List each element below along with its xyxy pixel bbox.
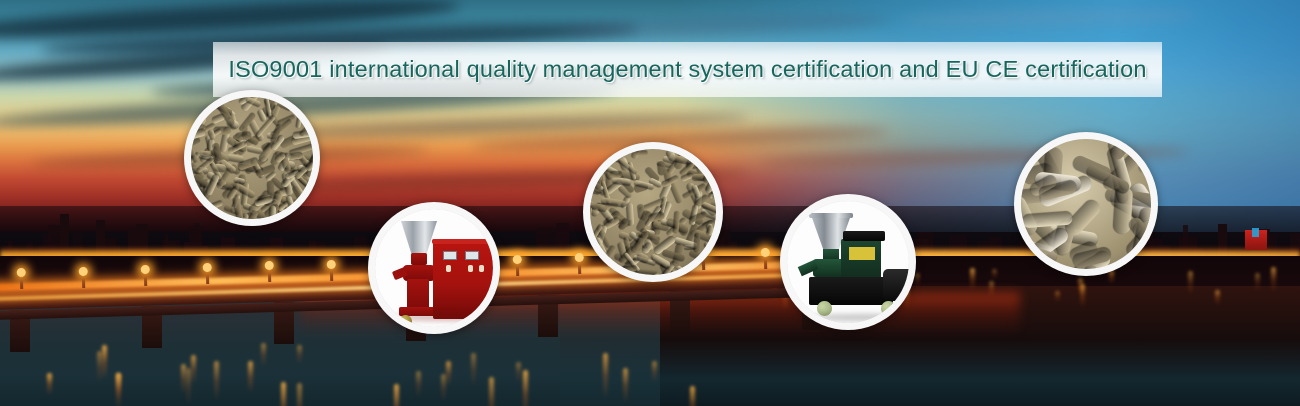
water-reflection	[261, 343, 266, 367]
machine-switch	[446, 265, 451, 272]
machine-cabinet-top	[432, 239, 493, 244]
headline-bar: ISO9001 international quality management…	[213, 42, 1162, 97]
water-reflection	[623, 368, 628, 403]
water-reflection	[1271, 267, 1276, 292]
water-reflection	[97, 351, 102, 383]
circle-image-area	[787, 201, 909, 323]
wood-pellet	[610, 172, 622, 178]
water-reflection	[915, 273, 920, 287]
water-reflection	[1078, 278, 1083, 293]
machine-meter	[465, 251, 479, 260]
bridge-lamp	[268, 266, 271, 282]
wood-pellet	[694, 233, 700, 252]
circle-image-area	[590, 149, 716, 275]
water-reflection	[1109, 270, 1114, 284]
water-reflection	[416, 371, 421, 398]
water-reflection	[116, 373, 121, 406]
water-reflection	[1255, 273, 1260, 291]
water-reflection	[297, 345, 302, 365]
wood-pellet	[227, 153, 244, 161]
machine-control-cabinet	[433, 241, 493, 319]
circle-red-pellet-mill[interactable]	[368, 202, 500, 334]
wood-pellet	[201, 100, 210, 116]
water-reflection	[441, 374, 446, 402]
wood-pellet	[635, 151, 648, 156]
water-reflection	[214, 361, 219, 402]
water-reflection	[1215, 290, 1220, 305]
water-reflection	[989, 281, 994, 297]
circle-image-area	[375, 209, 493, 327]
circle-image-area	[1021, 139, 1151, 269]
water-reflection	[446, 361, 451, 387]
water-reflection	[471, 353, 476, 386]
wood-pellet	[605, 264, 618, 275]
water-reflection	[516, 362, 521, 382]
bridge-lamp	[764, 253, 767, 269]
headline-text: ISO9001 international quality management…	[228, 56, 1146, 83]
water-reflection	[690, 386, 695, 406]
wood-pellet	[712, 195, 716, 200]
circle-wood-pellets-3[interactable]	[1014, 132, 1158, 276]
machine-meter	[443, 251, 457, 260]
cloud-streak	[560, 10, 890, 40]
cloud-streak	[900, 7, 1200, 28]
wood-pellet	[210, 98, 220, 102]
bridge-lamp	[330, 265, 333, 281]
water-reflection	[248, 361, 253, 392]
wood-pellet	[1021, 264, 1035, 269]
water-reflection	[102, 345, 107, 379]
wood-pellet	[308, 181, 313, 193]
water-reflection	[394, 384, 399, 406]
bridge-lamp	[20, 273, 23, 289]
wood-pellet	[590, 166, 606, 172]
promo-banner: ISO9001 international quality management…	[0, 0, 1300, 406]
blue-sign-accent	[1252, 228, 1259, 237]
water-reflection	[191, 355, 196, 384]
circle-image-area	[191, 97, 313, 219]
wood-pellet	[269, 206, 276, 219]
bridge-lamp	[516, 260, 519, 276]
water-reflection	[652, 361, 657, 382]
bridge-lamp	[206, 268, 209, 284]
circle-green-pellet-mill[interactable]	[780, 194, 916, 330]
machine-warning-label	[849, 247, 875, 260]
water-reflection	[992, 269, 997, 280]
machine-shadow	[809, 314, 909, 321]
water-reflection	[489, 377, 494, 406]
wood-pellet-texture	[191, 97, 313, 219]
wood-pellet	[246, 146, 262, 154]
machine-top-cover	[843, 231, 885, 241]
circle-wood-pellets-1[interactable]	[184, 90, 320, 226]
water-reflection	[603, 353, 608, 400]
wood-pellet-texture	[1021, 139, 1151, 269]
wood-pellet	[225, 97, 239, 104]
wood-pellet-texture	[590, 149, 716, 275]
water-reflection	[1188, 271, 1193, 295]
bridge-lamp	[578, 258, 581, 274]
water-reflection	[281, 382, 286, 406]
machine-electric-motor	[883, 269, 909, 301]
machine-hopper-rim	[809, 213, 853, 218]
machine-switch	[479, 265, 484, 272]
water-reflection	[297, 383, 302, 406]
wood-pellet	[268, 181, 275, 195]
machine-switch	[468, 265, 473, 272]
bridge-lamp	[144, 270, 147, 286]
machine-logo-badge	[399, 315, 412, 327]
water-reflection	[1055, 291, 1060, 302]
bridge-lamp	[82, 272, 85, 288]
water-reflection	[970, 268, 975, 290]
machine-hopper-neck	[411, 253, 427, 265]
wood-pellet	[307, 127, 313, 132]
water-reflection	[47, 373, 52, 394]
water-reflection	[523, 370, 528, 406]
circle-wood-pellets-2[interactable]	[583, 142, 723, 282]
